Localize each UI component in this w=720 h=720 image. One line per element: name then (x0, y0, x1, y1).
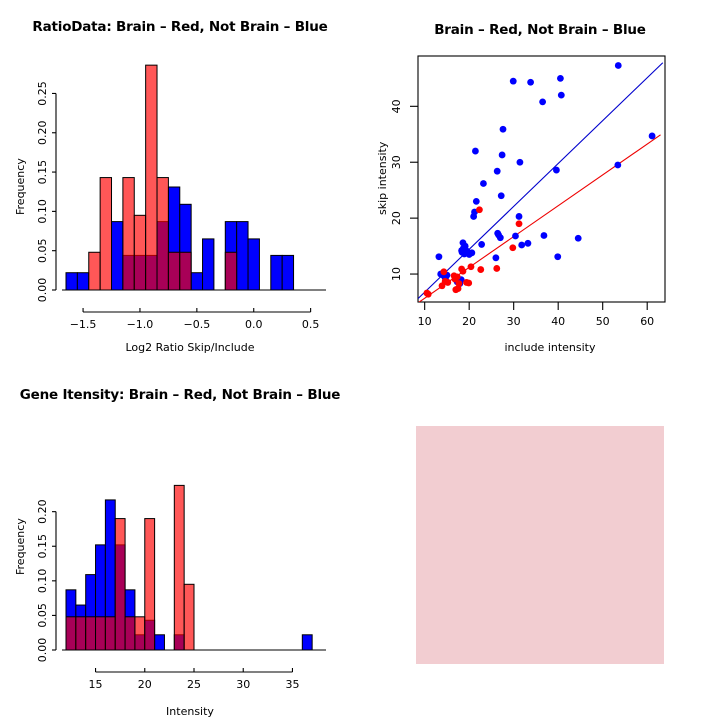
hist-bar-brain (86, 617, 96, 650)
scatter-point-not-brain (492, 254, 499, 261)
hist-bar-brain (100, 178, 111, 290)
hist-bar-brain (180, 252, 191, 290)
scatter-point-not-brain (494, 168, 501, 175)
scatter-ylabel: skip intensity (376, 142, 389, 215)
hist-bar-brain (76, 617, 86, 650)
scatter-point-brain (444, 279, 451, 286)
y-axis-tick-label: 30 (390, 155, 403, 169)
scatter-xlabel: include intensity (400, 341, 700, 354)
scatter-point-not-brain (512, 233, 519, 240)
scatter-point-not-brain (557, 75, 564, 82)
hist-bar-brain (157, 178, 168, 290)
hist-bar-not-brain (271, 255, 282, 290)
x-axis-tick-label: 20 (138, 678, 152, 691)
hist-bar-not-brain (203, 239, 214, 290)
plot-inner (418, 62, 663, 302)
scatter-point-not-brain (510, 78, 517, 85)
x-axis-tick-label: 15 (89, 678, 103, 691)
y-axis-tick-label: 0.25 (36, 81, 49, 106)
scatter-point-brain (476, 206, 483, 213)
hist-bar-not-brain (248, 239, 259, 290)
scatter-point-not-brain (498, 192, 505, 199)
scatter-point-not-brain (614, 162, 621, 169)
hist-bar-not-brain (191, 273, 202, 290)
hist-bar-brain (105, 617, 115, 650)
scatter-title: Brain – Red, Not Brain – Blue (360, 22, 720, 38)
scatter-point-not-brain (518, 242, 525, 249)
hist-bar-brain (225, 252, 236, 290)
gene-histogram-plot: 0.000.050.100.150.201520253035 (0, 360, 360, 720)
x-axis-tick-label: 0.5 (302, 318, 320, 331)
scatter-point-not-brain (468, 249, 475, 256)
scatter-point-not-brain (497, 234, 504, 241)
scatter-point-brain (468, 263, 475, 270)
scatter-point-not-brain (527, 79, 534, 86)
hist-bar-brain (89, 252, 100, 290)
x-axis-tick-label: 60 (640, 315, 654, 328)
scatter-point-brain (493, 265, 500, 272)
x-axis-tick-label: 20 (462, 315, 476, 328)
x-axis-tick-label: 35 (285, 678, 299, 691)
x-axis-tick-label: 40 (551, 315, 565, 328)
hist-bar-not-brain (302, 635, 312, 650)
y-axis-tick-label: 40 (390, 99, 403, 113)
y-axis-tick-label: 0.00 (36, 278, 49, 303)
fit-line-not-brain-fit (418, 63, 663, 299)
ratio-hist-xlabel: Log2 Ratio Skip/Include (40, 341, 340, 354)
y-axis-tick-label: 0.05 (36, 238, 49, 262)
hist-bar-not-brain (77, 273, 88, 290)
panel-scatter: Brain – Red, Not Brain – Blue skip inten… (360, 0, 720, 360)
x-axis-tick-label: −1.5 (70, 318, 97, 331)
scatter-point-brain (465, 280, 472, 287)
hist-bar-brain (135, 617, 145, 650)
scatter-point-not-brain (478, 241, 485, 248)
hist-bar-brain (145, 519, 155, 650)
scatter-point-not-brain (554, 253, 561, 260)
hist-bar-brain (66, 617, 76, 650)
x-axis-tick-label: 10 (418, 315, 432, 328)
hist-bar-not-brain (155, 635, 165, 650)
scatter-point-not-brain (541, 232, 548, 239)
hist-group: 0.000.050.100.150.200.25−1.5−1.0−0.50.00… (36, 65, 326, 331)
hist-bar-not-brain (282, 255, 293, 290)
hist-bar-brain (123, 178, 134, 290)
scatter-point-not-brain (649, 133, 656, 140)
y-axis-tick-label: 0.15 (36, 534, 49, 559)
panel-info: G7105196@J925900@j_at altCassette 573043… (360, 360, 720, 720)
scatter-point-not-brain (499, 152, 506, 159)
scatter-point-not-brain (558, 92, 565, 99)
scatter-group: 10203040506010203040 (390, 56, 665, 328)
scatter-point-brain (440, 268, 447, 275)
hist-bar-brain (184, 584, 194, 650)
hist-bar-brain (96, 617, 106, 650)
ratio-hist-title: RatioData: Brain – Red, Not Brain – Blue (0, 19, 360, 35)
y-axis-tick-label: 20 (390, 211, 403, 225)
hist-group: 0.000.050.100.150.201520253035 (36, 485, 326, 691)
scatter-point-brain (425, 291, 432, 298)
x-axis-tick-label: 30 (507, 315, 521, 328)
x-axis-tick-label: 30 (236, 678, 250, 691)
scatter-point-brain (516, 220, 523, 227)
gene-hist-title: Gene Itensity: Brain – Red, Not Brain – … (0, 387, 360, 403)
hist-bar-brain (168, 252, 179, 290)
scatter-point-not-brain (575, 235, 582, 242)
y-axis-tick-label: 10 (390, 267, 403, 281)
hist-bar-not-brain (66, 273, 77, 290)
scatter-point-not-brain (436, 253, 443, 260)
scatter-point-brain (460, 268, 467, 275)
scatter-point-not-brain (539, 98, 546, 105)
y-axis-tick-label: 0.20 (36, 121, 49, 146)
gene-info-box (416, 426, 664, 664)
y-axis-tick-label: 0.00 (36, 638, 49, 663)
scatter-point-brain (509, 244, 516, 251)
hist-bar-brain (125, 617, 135, 650)
scatter-point-not-brain (525, 240, 532, 247)
y-axis-tick-label: 0.10 (36, 569, 49, 594)
figure-canvas: RatioData: Brain – Red, Not Brain – Blue… (0, 0, 720, 720)
scatter-point-not-brain (473, 198, 480, 205)
scatter-plot: 10203040506010203040 (360, 0, 720, 360)
y-axis-tick-label: 0.05 (36, 603, 49, 628)
x-axis-tick-label: 0.0 (245, 318, 263, 331)
scatter-point-not-brain (480, 180, 487, 187)
hist-bar-not-brain (237, 222, 248, 290)
hist-bar-brain (146, 65, 157, 290)
scatter-point-not-brain (516, 213, 523, 220)
y-axis-tick-label: 0.20 (36, 499, 49, 524)
scatter-point-brain (477, 266, 484, 273)
gene-hist-xlabel: Intensity (40, 705, 340, 718)
x-axis-tick-label: 50 (596, 315, 610, 328)
gene-hist-ylabel: Frequency (14, 518, 27, 575)
hist-bar-not-brain (112, 222, 123, 290)
x-axis-tick-label: −1.0 (127, 318, 154, 331)
y-axis-tick-label: 0.15 (36, 160, 49, 185)
x-axis-tick-label: −0.5 (183, 318, 210, 331)
panel-gene-histogram: Gene Itensity: Brain – Red, Not Brain – … (0, 360, 360, 720)
hist-bar-brain (174, 485, 184, 650)
hist-bar-brain (115, 519, 125, 650)
ratio-hist-ylabel: Frequency (14, 158, 27, 215)
scatter-point-not-brain (615, 62, 622, 69)
scatter-point-not-brain (500, 126, 507, 133)
panel-ratio-histogram: RatioData: Brain – Red, Not Brain – Blue… (0, 0, 360, 360)
scatter-point-brain (454, 273, 461, 280)
hist-bar-brain (134, 215, 145, 290)
scatter-point-not-brain (553, 167, 560, 174)
scatter-point-brain (456, 280, 463, 287)
scatter-point-not-brain (517, 159, 524, 166)
scatter-point-not-brain (472, 148, 479, 155)
ratio-histogram-plot: 0.000.050.100.150.200.25−1.5−1.0−0.50.00… (0, 0, 360, 360)
y-axis-tick-label: 0.10 (36, 199, 49, 224)
x-axis-tick-label: 25 (187, 678, 201, 691)
